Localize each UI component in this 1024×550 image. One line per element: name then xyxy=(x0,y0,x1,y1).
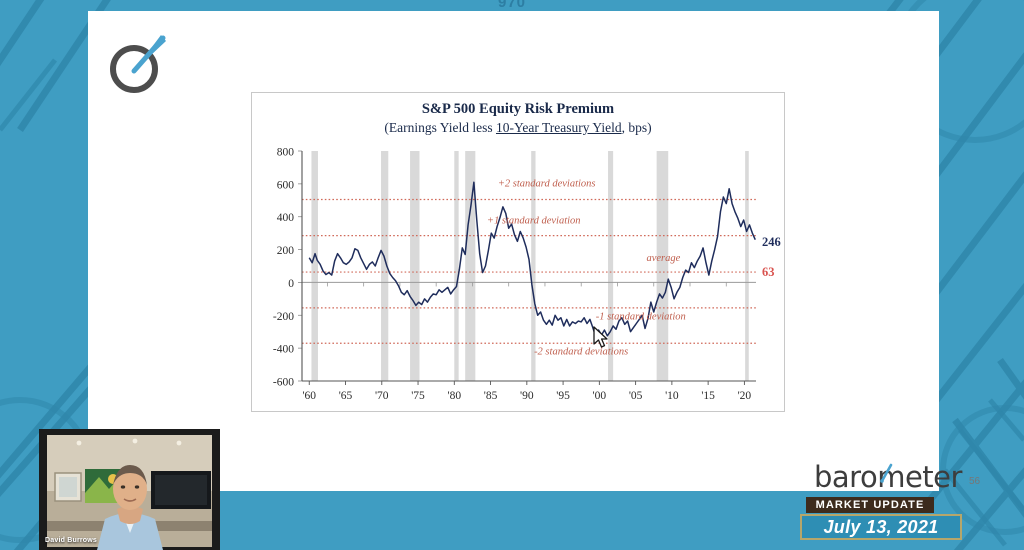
x-axis-tick-label: '05 xyxy=(629,390,643,402)
reference-line-label: average xyxy=(646,253,680,264)
video-participant-tile[interactable]: David Burrows xyxy=(39,429,220,550)
top-cut-text: 970 xyxy=(0,0,1024,11)
series-end-label: 63 xyxy=(762,265,775,279)
market-update-banner: MARKET UPDATE July 13, 2021 xyxy=(800,497,962,543)
x-axis-tick-label: '15 xyxy=(701,390,715,402)
x-axis-tick-label: '65 xyxy=(339,390,353,402)
mouse-cursor-icon xyxy=(593,326,611,350)
x-axis-tick-label: '90 xyxy=(520,390,534,402)
barometer-gauge-logo-icon xyxy=(105,33,171,95)
x-axis-tick-label: '20 xyxy=(738,390,752,402)
market-update-eyebrow: MARKET UPDATE xyxy=(806,497,934,513)
reference-line-label: +1 standard deviation xyxy=(487,215,581,226)
recession-band xyxy=(311,151,318,381)
page-number: 56 xyxy=(969,476,980,492)
x-axis-tick-label: '70 xyxy=(375,390,389,402)
x-axis-tick-label: '75 xyxy=(411,390,425,402)
x-axis-tick-label: '95 xyxy=(556,390,570,402)
reference-line-label: +2 standard deviations xyxy=(498,178,596,189)
recession-band xyxy=(657,151,669,381)
series-end-label: 246 xyxy=(762,235,781,249)
barometer-brand-logo: barometer 56 xyxy=(814,463,980,492)
video-feed xyxy=(39,429,220,550)
reference-line-label: -2 standard deviations xyxy=(534,347,628,358)
recession-band xyxy=(454,151,458,381)
y-axis-tick-label: 200 xyxy=(277,245,295,257)
x-axis-tick-label: '85 xyxy=(484,390,498,402)
reference-line-label: -1 standard deviation xyxy=(596,311,686,322)
y-axis-tick-label: -200 xyxy=(273,311,294,323)
x-axis-tick-label: '60 xyxy=(302,390,316,402)
top-cut-label: 970 xyxy=(498,0,526,11)
market-update-date: July 13, 2021 xyxy=(800,514,962,540)
chart-svg: 8006004002000-200-400-600'60'65'70'75'80… xyxy=(252,93,786,413)
y-axis-tick-label: -600 xyxy=(273,377,294,389)
presentation-slide: S&P 500 Equity Risk Premium (Earnings Yi… xyxy=(88,11,939,491)
chart-card: S&P 500 Equity Risk Premium (Earnings Yi… xyxy=(251,92,785,412)
y-axis-tick-label: 800 xyxy=(277,147,295,159)
barometer-needle-icon xyxy=(872,463,894,485)
y-axis-tick-label: 400 xyxy=(277,212,295,224)
y-axis-tick-label: -400 xyxy=(273,344,294,356)
y-axis-tick-label: 600 xyxy=(277,179,295,191)
recession-band xyxy=(410,151,419,381)
x-axis-tick-label: '10 xyxy=(665,390,679,402)
participant-name-label: David Burrows xyxy=(45,537,97,544)
x-axis-tick-label: '80 xyxy=(448,390,462,402)
chart-plot-area: 8006004002000-200-400-600'60'65'70'75'80… xyxy=(252,93,786,413)
x-axis-tick-label: '00 xyxy=(593,390,607,402)
y-axis-tick-label: 0 xyxy=(288,278,294,290)
recession-band xyxy=(745,151,749,381)
